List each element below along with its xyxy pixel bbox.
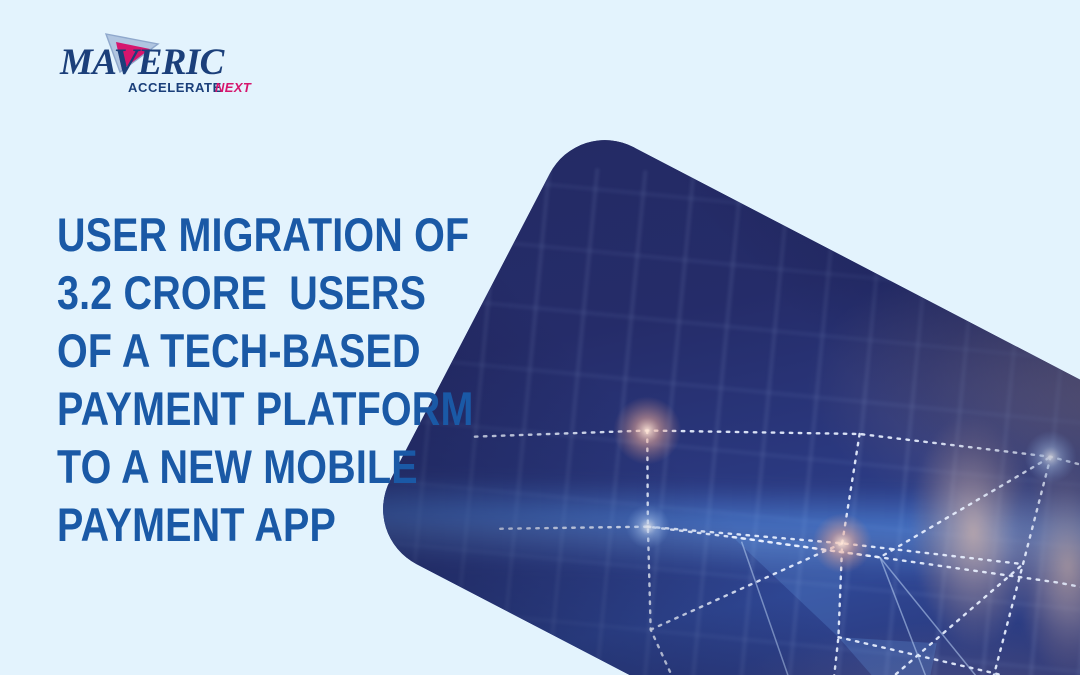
logo-tagline-primary: ACCELERATE [128, 80, 222, 95]
logo-tagline-accent: NEXT [215, 80, 252, 95]
headline-line-2: 3.2 CRORE USERS [57, 264, 410, 322]
headline-line-1: USER MIGRATION OF [57, 206, 410, 264]
headline-line-3: OF A TECH-BASED [57, 322, 410, 380]
page-title: USER MIGRATION OF 3.2 CRORE USERS OF A T… [57, 206, 477, 554]
maveric-logo[interactable]: MAVERIC ACCELERATE NEXT [58, 28, 258, 100]
hand-fingers-layer [875, 393, 1080, 675]
headline-line-6: PAYMENT APP [57, 496, 410, 554]
headline-line-4: PAYMENT PLATFORM [57, 380, 410, 438]
logo-wordmark: MAVERIC [59, 42, 226, 83]
banner-canvas: MAVERIC ACCELERATE NEXT USER MIGRATION O… [0, 0, 1080, 675]
headline-line-5: TO A NEW MOBILE [57, 438, 410, 496]
